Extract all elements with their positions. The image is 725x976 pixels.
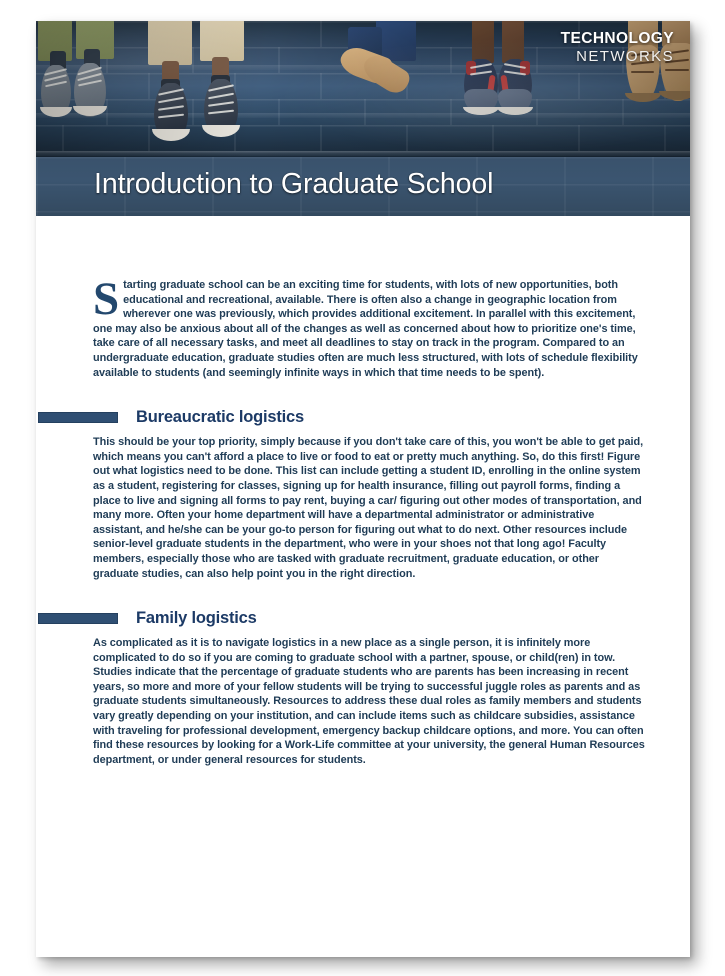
section-accent-bar [38,412,118,423]
section-title: Family logistics [136,609,257,628]
document-content: Starting graduate school can be an excit… [36,216,690,767]
section-bureaucratic-logistics: Bureaucratic logistics This should be yo… [36,408,645,581]
technology-networks-logo: TECHNOLOGY NETWORKS [561,31,674,64]
drop-cap-letter: S [93,279,123,318]
page-canvas: TECHNOLOGY NETWORKS Introduction to Grad… [0,0,725,976]
document-sheet: TECHNOLOGY NETWORKS Introduction to Grad… [36,21,690,957]
section-body-text: This should be your top priority, simply… [93,435,645,581]
document-title: Introduction to Graduate School [94,168,493,201]
logo-line-networks: NETWORKS [561,49,674,64]
section-heading-row: Bureaucratic logistics [38,408,645,427]
hero-photo-banner: TECHNOLOGY NETWORKS [36,21,690,157]
section-heading-row: Family logistics [38,609,645,628]
section-body-text: As complicated as it is to navigate logi… [93,636,645,767]
intro-block: Starting graduate school can be an excit… [93,278,645,380]
section-family-logistics: Family logistics As complicated as it is… [36,609,645,767]
intro-paragraph-text: tarting graduate school can be an exciti… [93,279,638,379]
logo-line-technology: TECHNOLOGY [561,31,674,47]
section-title: Bureaucratic logistics [136,408,304,427]
intro-paragraph: Starting graduate school can be an excit… [93,278,645,380]
title-band: Introduction to Graduate School [36,157,690,216]
section-accent-bar [38,613,118,624]
